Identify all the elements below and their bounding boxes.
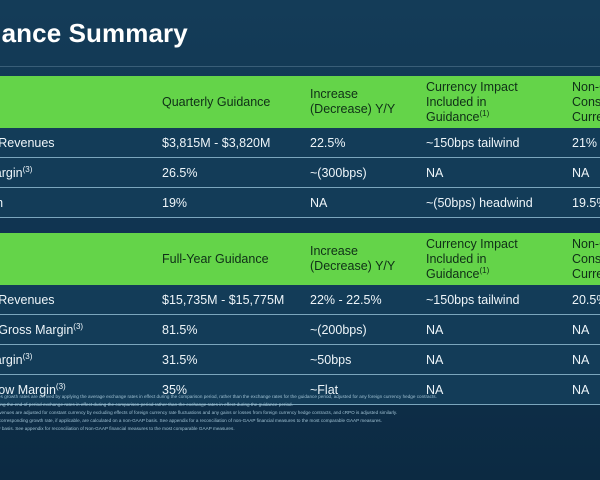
table-row: Operating Margin(3) 26.5% ~(300bps) NA N… [0, 158, 600, 188]
column-header-non-gaap-constant-currency: Non-GAAP Constant Currency [560, 233, 600, 285]
table-row: Subscription Gross Margin(3) 81.5% ~(200… [0, 315, 600, 345]
cell-yoy: ~50bps [298, 345, 414, 375]
cell-constant-currency: 21% - 21.5% [560, 128, 600, 158]
metric-text: Subscription Revenues [0, 136, 55, 150]
footnote-3: (3) Non-GAAP subscription revenues are a… [0, 409, 600, 417]
column-header-currency-impact: Currency Impact Included in Guidance(1) [414, 233, 560, 285]
metric-text: Operating Margin [0, 166, 23, 180]
column-header-metric: Guidance [0, 76, 150, 128]
slide-canvas: Guidance Summary Guidance Quarterly Guid… [0, 0, 600, 480]
cell-currency-impact: ~(50bps) headwind [414, 188, 560, 218]
metric-text: Operating Margin [0, 353, 23, 367]
column-header-increase-decrease-yoy: Increase (Decrease) Y/Y [298, 76, 414, 128]
metric-text: Subscription Gross Margin [0, 323, 73, 337]
cell-yoy: 22.5% [298, 128, 414, 158]
cell-yoy: ~(200bps) [298, 315, 414, 345]
table-row: Subscription Revenues $15,735M - $15,775… [0, 285, 600, 315]
table-header-row: Guidance Full-Year Guidance Increase (De… [0, 233, 600, 285]
column-header-increase-decrease-yoy: Increase (Decrease) Y/Y [298, 233, 414, 285]
column-header-metric: Guidance [0, 233, 150, 285]
cell-guidance: 19% [150, 188, 298, 218]
metric-text: Subscription Revenues [0, 293, 55, 307]
footnote-marker: (3) [56, 381, 66, 390]
cell-guidance: 81.5% [150, 315, 298, 345]
column-header-currency-impact-label: Currency Impact Included in Guidance [426, 80, 518, 124]
slide-header: Guidance Summary [0, 0, 600, 66]
footnote-marker: (3) [23, 351, 33, 360]
footnote-4: (4) These measures, and the correspondin… [0, 417, 600, 425]
cell-currency-impact: NA [414, 158, 560, 188]
row-metric-label: Subscription Revenues [0, 128, 150, 158]
title-divider [0, 66, 600, 67]
footnote-marker: (1) [480, 265, 490, 274]
footnote-5: (5) Calculated on a non-GAAP basis. See … [0, 425, 600, 433]
column-header-fullyear-guidance: Full-Year Guidance [150, 233, 298, 285]
footnote-1: (1) Constant currency revenues growth ra… [0, 393, 600, 401]
table-header-row: Guidance Quarterly Guidance Increase (De… [0, 76, 600, 128]
table-row: Operating Margin(3) 31.5% ~50bps NA NA [0, 345, 600, 375]
row-metric-label: Subscription Gross Margin(3) [0, 315, 150, 345]
cell-currency-impact: ~150bps tailwind [414, 285, 560, 315]
cell-constant-currency: 20.5% - 21% [560, 285, 600, 315]
cell-guidance: 31.5% [150, 345, 298, 375]
column-header-quarterly-guidance: Quarterly Guidance [150, 76, 298, 128]
cell-currency-impact: NA [414, 345, 560, 375]
cell-guidance: $15,735M - $15,775M [150, 285, 298, 315]
column-header-currency-impact: Currency Impact Included in Guidance(1) [414, 76, 560, 128]
cell-guidance: $3,815M - $3,820M [150, 128, 298, 158]
footnotes-block: (1) Constant currency revenues growth ra… [0, 393, 600, 433]
cell-yoy: NA [298, 188, 414, 218]
cell-constant-currency: 19.5% [560, 188, 600, 218]
row-metric-label: cRPO Growth [0, 188, 150, 218]
metric-text: cRPO Growth [0, 196, 3, 210]
footnote-marker: (3) [73, 321, 83, 330]
row-metric-label: Operating Margin(3) [0, 345, 150, 375]
cell-constant-currency: NA [560, 158, 600, 188]
cell-constant-currency: NA [560, 315, 600, 345]
quarterly-guidance-table: Guidance Quarterly Guidance Increase (De… [0, 76, 600, 218]
column-header-currency-impact-label: Currency Impact Included in Guidance [426, 237, 518, 281]
row-metric-label: Operating Margin(3) [0, 158, 150, 188]
footnote-2: (2) cRPO is adjusted by applying the end… [0, 401, 600, 409]
footnote-marker: (1) [480, 108, 490, 117]
cell-currency-impact: NA [414, 315, 560, 345]
cell-yoy: 22% - 22.5% [298, 285, 414, 315]
footnote-marker: (3) [23, 164, 33, 173]
cell-constant-currency: NA [560, 345, 600, 375]
table-row: Subscription Revenues $3,815M - $3,820M … [0, 128, 600, 158]
cell-guidance: 26.5% [150, 158, 298, 188]
column-header-non-gaap-constant-currency: Non-GAAP Constant Currency [560, 76, 600, 128]
row-metric-label: Subscription Revenues [0, 285, 150, 315]
cell-currency-impact: ~150bps tailwind [414, 128, 560, 158]
table-row: cRPO Growth 19% NA ~(50bps) headwind 19.… [0, 188, 600, 218]
fullyear-guidance-table: Guidance Full-Year Guidance Increase (De… [0, 233, 600, 405]
page-title: Guidance Summary [0, 18, 188, 49]
cell-yoy: ~(300bps) [298, 158, 414, 188]
